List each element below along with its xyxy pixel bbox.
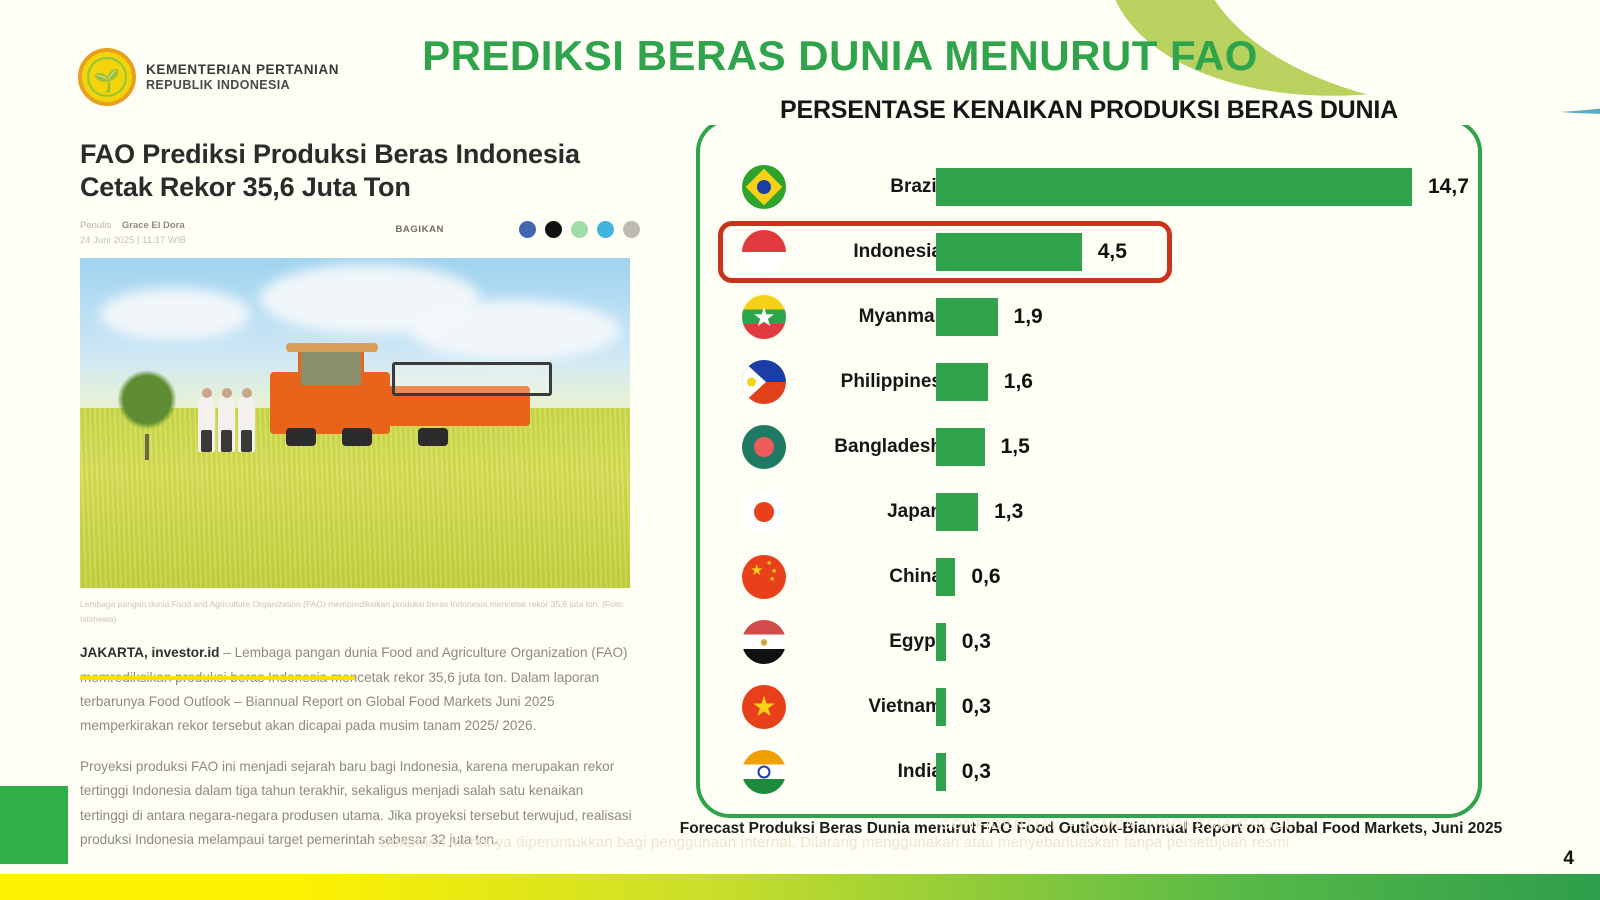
news-photo	[80, 258, 630, 588]
news-meta: Penulis Grace El Dora 24 Juni 2025 | 11:…	[80, 218, 640, 252]
page-number: 4	[1563, 848, 1574, 870]
bar-bangladesh	[936, 428, 985, 466]
bar-japan	[936, 493, 978, 531]
decoration-green-square	[0, 786, 68, 864]
chart-title: PERSENTASE KENAIKAN PRODUKSI BERAS DUNIA	[696, 96, 1482, 125]
country-label: Japan	[796, 501, 942, 523]
x-twitter-icon[interactable]	[545, 221, 562, 238]
bar-vietnam	[936, 688, 946, 726]
chart-panel: Brazil14,7Indonesia4,5★Myanmar1,9Philipp…	[696, 118, 1482, 818]
chart-row: ★★★★China0,6	[700, 552, 1486, 602]
country-label: Egypt	[796, 631, 942, 653]
country-label: Bangladesh	[796, 436, 942, 458]
country-label: India	[796, 761, 942, 783]
flag-indonesia-icon	[742, 230, 786, 274]
chart-rows: Brazil14,7Indonesia4,5★Myanmar1,9Philipp…	[700, 122, 1486, 822]
chart-row: Philippines1,6	[700, 357, 1486, 407]
yellow-highlighter-line	[80, 676, 355, 680]
byline-author: Grace El Dora	[122, 220, 185, 231]
people-group	[198, 396, 255, 452]
chart-row: Japan1,3	[700, 487, 1486, 537]
photo-caption: Lembaga pangan dunia Food and Agricultur…	[80, 597, 626, 628]
news-headline: FAO Prediksi Produksi Beras Indonesia Ce…	[80, 138, 640, 204]
flag-vietnam-icon: ★	[742, 685, 786, 729]
byline-date: 24 Juni 2025 | 11:17 WIB	[80, 233, 186, 248]
bar-value-label: 1,6	[1004, 370, 1033, 394]
country-label: Brazil	[796, 176, 942, 198]
share-label: BAGIKAN	[395, 224, 444, 235]
facebook-icon[interactable]	[519, 221, 536, 238]
flag-india-icon	[742, 750, 786, 794]
news-lead-source: JAKARTA, investor.id	[80, 645, 219, 660]
news-body: JAKARTA, investor.id – Lembaga pangan du…	[80, 641, 632, 852]
harvester-machine	[250, 348, 560, 448]
chart-row: ★Vietnam0,3	[700, 682, 1486, 732]
share-bar: BAGIKAN	[395, 221, 640, 238]
news-paragraph-1: JAKARTA, investor.id – Lembaga pangan du…	[80, 641, 632, 738]
flag-philippines-icon	[742, 360, 786, 404]
chart-row: ◉Egypt0,3	[700, 617, 1486, 667]
flag-japan-icon	[742, 490, 786, 534]
flag-egypt-icon: ◉	[742, 620, 786, 664]
bar-value-label: 1,5	[1001, 435, 1030, 459]
country-label: China	[796, 566, 942, 588]
bar-china	[936, 558, 955, 596]
flag-bangladesh-icon	[742, 425, 786, 469]
bar-brazil	[936, 168, 1412, 206]
bar-value-label: 1,9	[1014, 305, 1043, 329]
bar-egypt	[936, 623, 946, 661]
bar-value-label: 0,3	[962, 695, 991, 719]
telegram-icon[interactable]	[597, 221, 614, 238]
chart-row: Bangladesh1,5	[700, 422, 1486, 472]
country-label: Philippines	[796, 371, 942, 393]
bar-value-label: 0,6	[971, 565, 1000, 589]
flag-brazil-icon	[742, 165, 786, 209]
bar-myanmar	[936, 298, 998, 336]
bar-philippines	[936, 363, 988, 401]
country-label: Myanmar	[796, 306, 942, 328]
page-title: PREDIKSI BERAS DUNIA MENURUT FAO	[0, 32, 1600, 80]
whatsapp-icon[interactable]	[571, 221, 588, 238]
watermark-internal-use: Dokumen ini hanya diperuntukkan bagi pen…	[380, 834, 1500, 851]
byline-label: Penulis	[80, 220, 111, 231]
bar-value-label: 0,3	[962, 760, 991, 784]
country-label: Indonesia	[796, 241, 942, 263]
bar-value-label: 14,7	[1428, 175, 1469, 199]
bar-india	[936, 753, 946, 791]
chart-row: India0,3	[700, 747, 1486, 797]
country-label: Vietnam	[796, 696, 942, 718]
copy-link-icon[interactable]	[623, 221, 640, 238]
bar-value-label: 0,3	[962, 630, 991, 654]
decoration-bottom-gradient-bar	[0, 874, 1600, 900]
news-clipping: FAO Prediksi Produksi Beras Indonesia Ce…	[80, 138, 640, 852]
watermark-confidential: CONFIDENTIAL – SEMEN INDONESIA GROUP	[940, 816, 1297, 832]
flag-china-icon: ★★★★	[742, 555, 786, 599]
tree-shape	[116, 368, 178, 438]
chart-row: Indonesia4,5	[700, 227, 1486, 277]
byline: Penulis Grace El Dora 24 Juni 2025 | 11:…	[80, 218, 186, 248]
chart-row: Brazil14,7	[700, 162, 1486, 212]
bar-indonesia	[936, 233, 1082, 271]
flag-myanmar-icon: ★	[742, 295, 786, 339]
chart-row: ★Myanmar1,9	[700, 292, 1486, 342]
bar-value-label: 1,3	[994, 500, 1023, 524]
bar-value-label: 4,5	[1098, 240, 1127, 264]
